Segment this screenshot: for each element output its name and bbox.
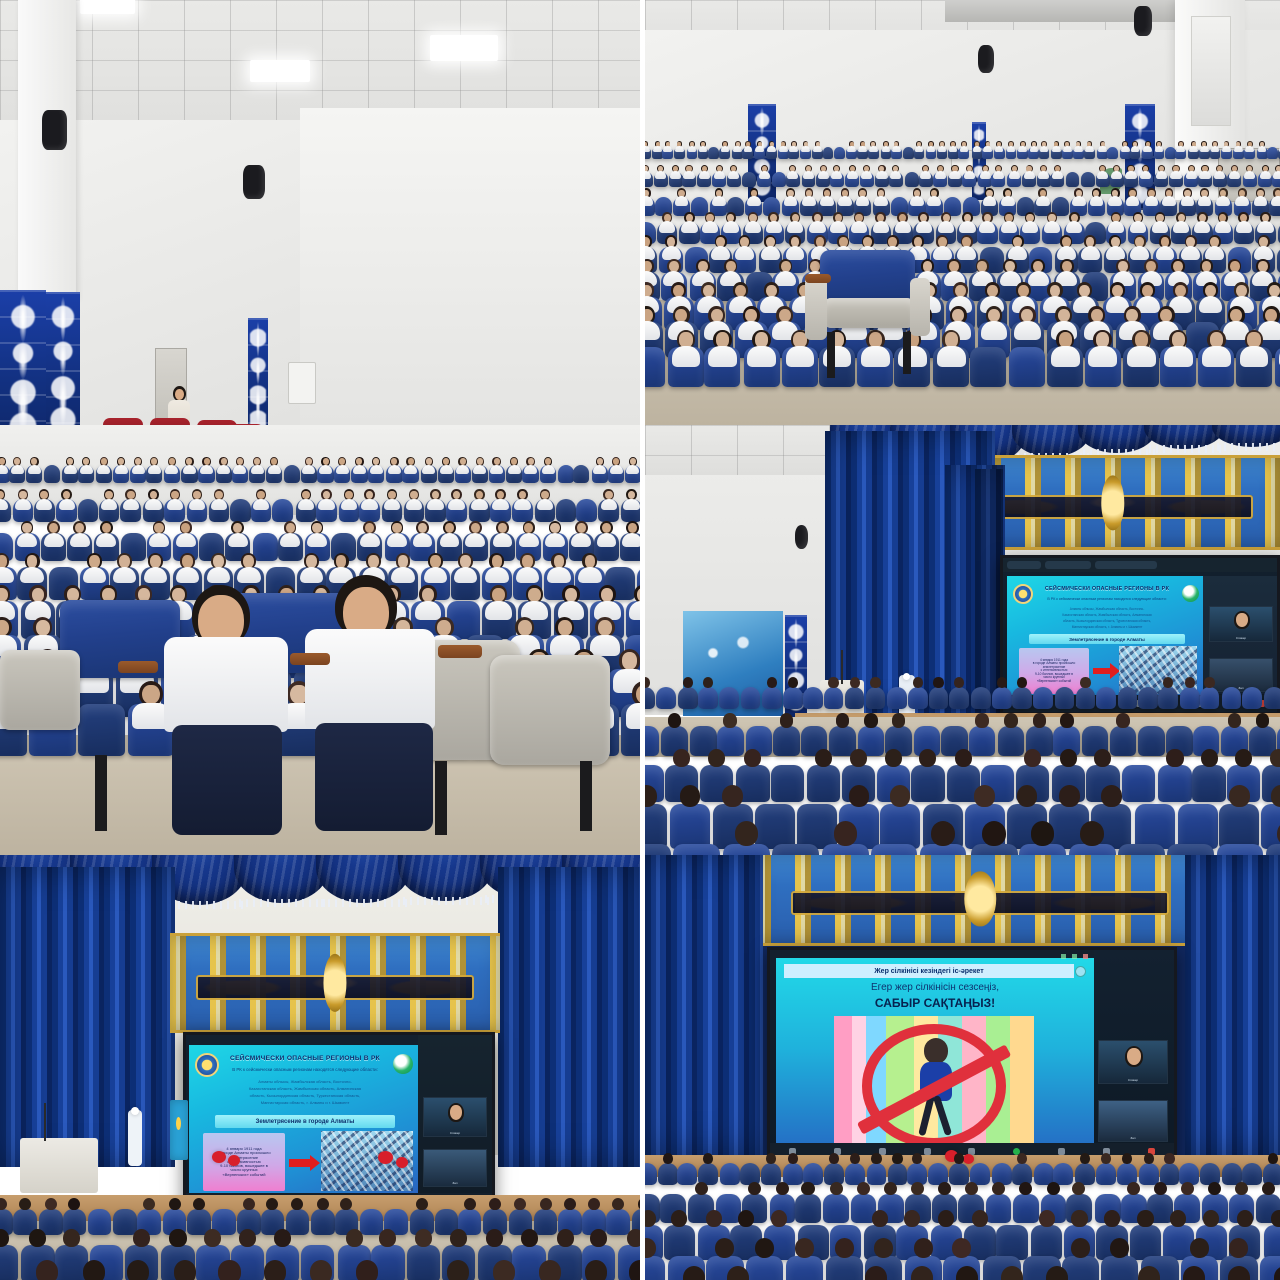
student	[836, 713, 850, 741]
student	[1145, 141, 1151, 153]
white-shirt	[490, 465, 503, 474]
projector-screen[interactable]: СЕЙСМИЧЕСКИ ОПАСНЫЕ РЕГИОНЫ В РК В РК к …	[183, 1032, 495, 1210]
white-shirt	[927, 196, 941, 206]
seat-back	[708, 147, 719, 159]
participant-name: Зал	[424, 1181, 486, 1185]
head	[0, 1198, 7, 1211]
head	[776, 1182, 789, 1196]
face	[89, 555, 100, 567]
head	[904, 1210, 920, 1227]
student	[495, 489, 506, 511]
head	[63, 1229, 80, 1247]
head	[1101, 785, 1121, 806]
student	[1212, 141, 1218, 153]
student	[1256, 713, 1270, 741]
head	[708, 749, 725, 767]
white-shirt	[1007, 146, 1016, 152]
student	[689, 141, 695, 153]
student	[83, 1260, 105, 1280]
head	[892, 1153, 902, 1164]
student	[954, 677, 964, 698]
white-shirt	[813, 146, 822, 152]
head	[540, 1198, 552, 1211]
conference-topbar	[1003, 558, 1277, 572]
face	[601, 588, 613, 602]
speaker-video-tile[interactable]: Спикер	[423, 1097, 487, 1137]
student	[1020, 141, 1026, 153]
student	[854, 212, 864, 234]
student	[310, 1260, 332, 1280]
student	[1056, 330, 1074, 369]
seat-back	[673, 844, 720, 855]
head	[1017, 677, 1027, 688]
white-shirt	[847, 146, 856, 152]
student	[803, 141, 809, 153]
head	[83, 1260, 105, 1280]
student	[928, 141, 934, 153]
white-shirt	[1194, 221, 1210, 232]
white-shirt	[659, 221, 675, 232]
secondary-video-tile[interactable]: Зал	[1098, 1100, 1168, 1142]
head	[243, 1198, 255, 1211]
shared-screen-pill[interactable]	[1095, 561, 1157, 568]
head	[1164, 1153, 1174, 1164]
student	[219, 457, 227, 474]
student	[214, 489, 225, 511]
student	[551, 553, 566, 584]
student	[1238, 212, 1248, 234]
student	[1262, 165, 1269, 180]
head	[965, 1182, 978, 1196]
armrest-wood	[805, 274, 831, 283]
stage-curtain-right	[1185, 855, 1280, 1155]
white-shirt	[1240, 346, 1269, 366]
white-shirt	[802, 196, 816, 206]
slide-region-line-1: Алматы облысы, Жамбылская область, Восто…	[1007, 607, 1207, 611]
student	[1158, 165, 1165, 180]
minimize-icon[interactable]	[1061, 954, 1066, 959]
empty-seat-cushion	[823, 298, 915, 328]
student	[715, 188, 724, 206]
meeting-info-pill[interactable]	[1007, 561, 1041, 568]
head	[346, 1229, 363, 1247]
flower	[378, 1151, 393, 1164]
student	[866, 330, 884, 369]
student	[982, 165, 989, 180]
student	[752, 330, 770, 369]
seat-back	[1118, 687, 1138, 709]
head	[340, 1198, 352, 1211]
audience-rows	[645, 140, 1280, 425]
student	[961, 141, 967, 153]
white-shirt	[831, 171, 842, 179]
head	[884, 1182, 897, 1196]
white-shirt	[1121, 146, 1130, 152]
student	[1268, 1153, 1278, 1174]
student	[768, 212, 778, 234]
head	[801, 1182, 814, 1196]
seat-back	[719, 687, 739, 709]
white-shirt	[655, 171, 666, 179]
student	[409, 489, 420, 511]
head	[557, 1229, 574, 1247]
head	[1039, 1210, 1055, 1227]
head	[955, 749, 972, 767]
meatball-icon[interactable]	[1075, 966, 1086, 977]
head	[835, 1238, 854, 1258]
white-shirt	[927, 146, 936, 152]
seat-back	[1217, 844, 1264, 855]
head	[1268, 1153, 1278, 1164]
head	[310, 1260, 332, 1280]
student	[1017, 1153, 1027, 1174]
face	[286, 523, 295, 533]
student	[1144, 1153, 1154, 1174]
face	[711, 309, 723, 323]
window-controls[interactable]	[1061, 954, 1088, 959]
head	[585, 1260, 607, 1280]
slide-band: Землетрясение в городе Алматы	[1029, 634, 1185, 644]
white-shirt	[361, 499, 377, 511]
student	[997, 677, 1007, 698]
head	[872, 1210, 888, 1227]
student	[539, 1260, 561, 1280]
student	[966, 165, 973, 180]
white-shirt	[1072, 196, 1086, 206]
face	[171, 491, 179, 500]
white-shirt	[601, 499, 617, 511]
white-shirt	[11, 465, 24, 474]
white-shirt	[1164, 346, 1193, 366]
student	[1178, 141, 1184, 153]
white-shirt	[456, 465, 469, 474]
participant-thumbnail	[1099, 1101, 1167, 1141]
student	[663, 1153, 673, 1174]
white-shirt	[861, 346, 890, 366]
student	[1025, 212, 1035, 234]
student	[540, 1198, 552, 1223]
close-icon[interactable]	[1083, 954, 1088, 959]
white-shirt	[973, 146, 982, 152]
seat-back	[823, 147, 834, 159]
head	[450, 1229, 467, 1247]
head	[892, 713, 906, 727]
white-shirt	[1215, 221, 1231, 232]
student	[892, 713, 906, 741]
student	[662, 212, 672, 234]
student	[858, 188, 867, 206]
head	[291, 1198, 303, 1211]
head	[911, 1182, 924, 1196]
seat-back	[1222, 687, 1242, 709]
slide-region-line-4: Мангистауская область, г. Алматы и г. Шы…	[1007, 625, 1207, 629]
student	[645, 141, 648, 153]
white-shirt	[59, 499, 75, 511]
head	[447, 1260, 469, 1280]
head	[766, 1153, 776, 1164]
white-shirt	[755, 146, 764, 152]
head	[788, 1153, 798, 1164]
white-shirt	[1198, 196, 1212, 206]
white-shirt	[983, 196, 997, 206]
head	[755, 1238, 774, 1258]
white-shirt	[1066, 221, 1082, 232]
student	[864, 713, 878, 741]
student	[1204, 677, 1214, 698]
seat-cushion	[490, 655, 610, 765]
seat-back	[284, 465, 300, 483]
face	[565, 588, 577, 602]
head	[1104, 1210, 1120, 1227]
white-shirt	[702, 221, 718, 232]
head	[952, 1238, 971, 1258]
white-shirt	[645, 196, 653, 206]
white-shirt	[787, 171, 798, 179]
student	[974, 141, 980, 153]
white-shirt	[876, 171, 887, 179]
white-shirt	[681, 221, 697, 232]
white-shirt	[1216, 196, 1230, 206]
student	[61, 489, 72, 511]
face	[598, 620, 612, 636]
seat-back	[573, 465, 589, 483]
student	[266, 1198, 278, 1223]
student	[941, 212, 951, 234]
student	[942, 330, 960, 369]
student	[21, 521, 34, 548]
slide-header: Жер сілкінісі кезіндегі іс-әрекет	[784, 964, 1074, 978]
white-shirt	[1097, 171, 1108, 179]
white-shirt	[733, 146, 742, 152]
maximize-icon[interactable]	[1072, 954, 1077, 959]
white-shirt	[1001, 221, 1017, 232]
flower-vase	[128, 1110, 142, 1166]
white-shirt	[916, 221, 932, 232]
student	[1247, 141, 1253, 153]
white-shirt	[723, 221, 739, 232]
participant-name: Спикер	[1099, 1078, 1167, 1082]
student	[933, 677, 943, 698]
student	[1147, 188, 1156, 206]
student	[703, 1153, 713, 1174]
student	[253, 457, 261, 474]
student	[180, 521, 193, 548]
student	[256, 489, 267, 511]
head	[464, 1198, 476, 1211]
student	[761, 165, 768, 180]
white-shirt	[524, 465, 537, 474]
student	[812, 212, 822, 234]
head	[514, 1198, 526, 1211]
secondary-video-tile[interactable]: Зал	[423, 1149, 487, 1187]
white-shirt	[1108, 221, 1124, 232]
white-shirt	[874, 196, 888, 206]
student	[1256, 188, 1265, 206]
seat-back	[887, 687, 907, 709]
student	[1047, 212, 1057, 234]
audience-rows	[0, 1195, 640, 1280]
white-shirt	[384, 499, 400, 511]
head	[865, 1266, 887, 1280]
white-shirt	[786, 346, 815, 366]
student	[975, 713, 989, 741]
student	[1004, 212, 1014, 234]
student	[805, 188, 814, 206]
student	[1183, 1266, 1205, 1280]
student	[1183, 188, 1192, 206]
white-shirt	[1234, 146, 1243, 152]
white-shirt	[1214, 171, 1225, 179]
student	[127, 1260, 149, 1280]
white-shirt	[1186, 171, 1197, 179]
seat-back	[1267, 147, 1278, 159]
head	[1122, 1153, 1132, 1164]
white-shirt	[1127, 346, 1156, 366]
panel-middle-right: СЕЙСМИЧЕСКИ ОПАСНЫЕ РЕГИОНЫ В РК В РК к …	[645, 425, 1280, 855]
seat-cushion	[0, 650, 80, 730]
white-shirt	[699, 146, 708, 152]
student	[996, 141, 1002, 153]
student	[1031, 821, 1055, 855]
student	[645, 677, 650, 698]
white-shirt	[406, 499, 422, 511]
head	[857, 1182, 870, 1196]
head	[193, 1198, 205, 1211]
white-shirt	[318, 499, 334, 511]
student	[612, 1198, 624, 1223]
head	[204, 1229, 221, 1247]
student	[703, 677, 713, 698]
white-shirt	[1260, 171, 1271, 179]
student	[780, 713, 794, 741]
student	[1113, 165, 1120, 180]
head	[1201, 749, 1218, 767]
white-shirt	[1131, 146, 1140, 152]
participants-pill[interactable]	[1045, 561, 1091, 568]
student	[730, 165, 737, 180]
seat-leg	[827, 332, 835, 378]
slide-region-line-4: Мангистауская область, г. Алматы и г. Шы…	[189, 1100, 421, 1105]
white-shirt	[1254, 196, 1268, 206]
white-shirt	[1189, 146, 1198, 152]
white-shirt	[200, 465, 213, 474]
speaker-video-tile[interactable]: Спикер	[1098, 1040, 1168, 1084]
kazakhstan-emblem-icon	[964, 871, 996, 926]
student	[13, 457, 21, 474]
student	[632, 681, 640, 731]
kazakhstan-emblem-icon	[1101, 475, 1124, 530]
head	[169, 1198, 181, 1211]
student	[657, 165, 664, 180]
student	[1003, 188, 1012, 206]
white-shirt	[980, 171, 991, 179]
student	[950, 141, 956, 153]
student	[0, 489, 5, 511]
white-shirt	[995, 146, 1004, 152]
student	[305, 457, 313, 474]
student	[340, 1198, 352, 1223]
white-shirt	[448, 499, 464, 511]
head	[703, 677, 713, 688]
white-shirt	[1140, 171, 1151, 179]
head	[1203, 1210, 1219, 1227]
student	[1080, 821, 1104, 855]
student	[1165, 188, 1174, 206]
head	[1004, 713, 1018, 727]
student	[1031, 141, 1037, 153]
head	[913, 677, 923, 688]
white-shirt	[1244, 171, 1255, 179]
white-shirt	[645, 146, 650, 152]
curtain-swag	[398, 855, 493, 901]
seat-back	[1096, 687, 1116, 709]
white-shirt	[744, 146, 753, 152]
speaker-video-tile[interactable]: Спикер	[1209, 606, 1273, 642]
student	[202, 457, 210, 474]
face	[257, 491, 265, 500]
face	[1210, 332, 1223, 347]
head	[1235, 1182, 1248, 1196]
white-shirt	[1145, 196, 1159, 206]
student	[677, 330, 695, 369]
gold-kazakh-banner	[755, 855, 1205, 946]
face	[1059, 332, 1072, 347]
red-chair	[150, 418, 190, 425]
student	[1273, 188, 1280, 206]
seat-back	[1165, 147, 1176, 159]
white-shirt	[890, 171, 901, 179]
curtain-swag	[316, 855, 411, 903]
white-shirt	[1156, 171, 1167, 179]
white-shirt	[622, 533, 640, 547]
student	[270, 457, 278, 474]
head	[486, 1229, 503, 1247]
white-shirt	[1063, 146, 1072, 152]
student	[1207, 330, 1225, 369]
student	[1076, 141, 1082, 153]
head	[1166, 749, 1183, 767]
student	[1200, 188, 1209, 206]
student	[36, 1260, 58, 1280]
face	[127, 491, 135, 500]
head	[36, 1260, 58, 1280]
white-shirt	[44, 533, 64, 547]
white-shirt	[838, 196, 852, 206]
student	[1185, 677, 1195, 698]
student	[526, 457, 534, 474]
student	[514, 1198, 526, 1223]
curtain-swag	[234, 855, 329, 903]
white-shirt	[1098, 146, 1107, 152]
auditorium-wall-right	[300, 108, 640, 425]
white-shirt	[80, 465, 93, 474]
seat-back	[656, 687, 676, 709]
head	[143, 1198, 155, 1211]
white-shirt	[759, 171, 770, 179]
wall-speaker	[795, 525, 808, 549]
seat-back	[971, 687, 991, 709]
student	[243, 1198, 255, 1223]
projector-screen[interactable]: Жер сілкінісі кезіндегі іс-әрекет Егер ж…	[767, 947, 1177, 1162]
student	[1191, 141, 1197, 153]
head	[1190, 1238, 1209, 1258]
student	[390, 457, 398, 474]
student	[442, 457, 450, 474]
head	[1116, 713, 1130, 727]
white-shirt	[675, 146, 684, 152]
face	[430, 555, 441, 567]
white-shirt	[979, 221, 995, 232]
